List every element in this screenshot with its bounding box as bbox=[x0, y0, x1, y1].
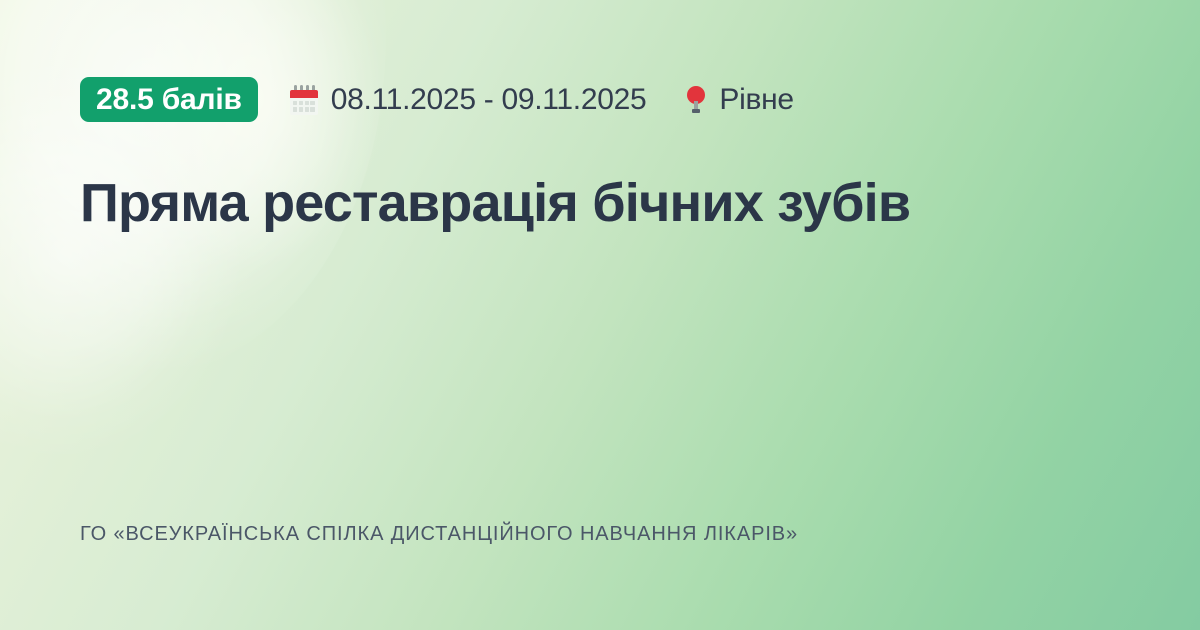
banner-content: 28.5 балів 08.11.2025 - 09.11.2025 bbox=[0, 0, 1200, 630]
event-date-range-label: 08.11.2025 - 09.11.2025 bbox=[331, 85, 647, 115]
page-title: Пряма реставрація бічних зубів bbox=[80, 172, 1120, 236]
event-banner-card: 28.5 балів 08.11.2025 - 09.11.2025 bbox=[0, 0, 1200, 630]
organizer-label: ГО «ВСЕУКРАЇНСЬКА СПІЛКА ДИСТАНЦІЙНОГО Н… bbox=[80, 524, 798, 544]
points-badge: 28.5 балів bbox=[80, 77, 258, 122]
round-pushpin-icon bbox=[686, 85, 706, 115]
event-meta-row: 28.5 балів 08.11.2025 - 09.11.2025 bbox=[80, 77, 794, 122]
event-date-range: 08.11.2025 - 09.11.2025 bbox=[290, 85, 647, 115]
event-location-label: Рівне bbox=[719, 85, 793, 115]
calendar-icon bbox=[290, 85, 318, 115]
event-location: Рівне bbox=[686, 85, 793, 115]
